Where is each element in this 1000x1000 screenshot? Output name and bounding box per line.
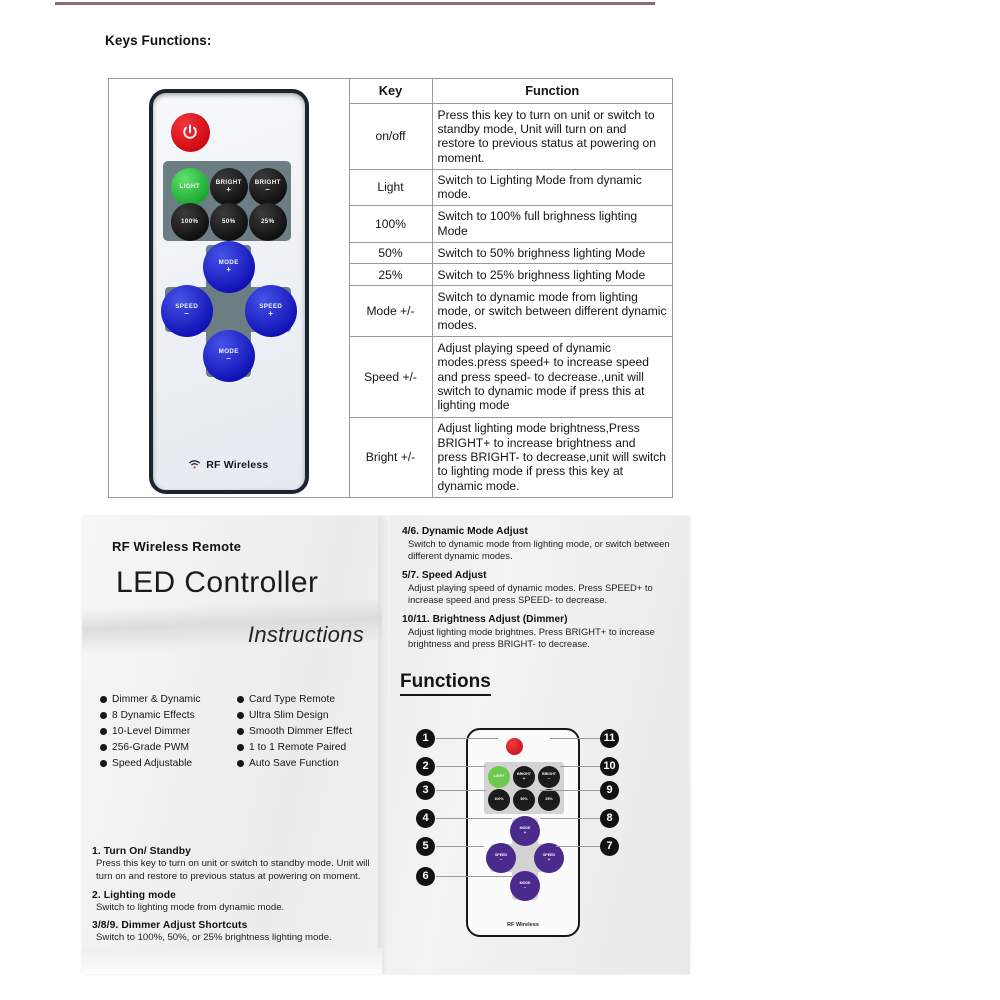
- list-item: Dimmer & Dynamic: [100, 694, 231, 705]
- leader-line-3: [436, 790, 486, 791]
- row-key-onoff: on/off: [349, 104, 432, 170]
- preset-50-label: 50%: [222, 219, 236, 225]
- row-key-light: Light: [349, 169, 432, 205]
- diagram-keypad: LIGHT BRIGHT+ BRIGHT– 100% 50% 25%: [484, 762, 564, 814]
- feature-label: Auto Save Function: [249, 758, 339, 769]
- feature-label: Dimmer & Dynamic: [112, 694, 201, 705]
- page-title: Keys Functions:: [105, 33, 212, 48]
- diagram-preset-25-label: 25%: [545, 798, 552, 802]
- bullet-icon: [100, 744, 107, 751]
- section-body: Adjust lighting mode brightnes. Press BR…: [408, 626, 682, 651]
- keys-functions-table: LIGHT BRIGHT + BRIGHT – 100% 50%: [108, 78, 673, 498]
- bullet-icon: [100, 760, 107, 767]
- column-header-key: Key: [349, 79, 432, 104]
- leader-line-1: [436, 738, 498, 739]
- column-header-function: Function: [432, 79, 673, 104]
- top-divider-rule: [55, 2, 655, 5]
- leader-line-2: [436, 766, 486, 767]
- list-item: Smooth Dimmer Effect: [237, 726, 368, 737]
- minus-icon: –: [265, 187, 270, 194]
- bright-plus-button[interactable]: BRIGHT +: [210, 168, 248, 206]
- leader-line-5: [436, 846, 484, 847]
- bullet-icon: [100, 712, 107, 719]
- callout-11: 11: [600, 729, 619, 748]
- leader-line-6: [436, 876, 512, 877]
- diagram-preset-25-button: 25%: [538, 789, 560, 811]
- preset-100-label: 100%: [181, 219, 198, 225]
- leaflet-title: LED Controller: [116, 566, 318, 600]
- diagram-preset-50-label: 50%: [520, 798, 527, 802]
- diagram-preset-50-button: 50%: [513, 789, 535, 811]
- instruction-leaflet-photo: RF Wireless Remote LED Controller Instru…: [82, 516, 690, 974]
- row-function-onoff: Press this key to turn on unit or switch…: [432, 104, 673, 170]
- leader-line-10: [560, 766, 600, 767]
- minus-icon: –: [524, 886, 527, 890]
- power-icon: [180, 123, 200, 143]
- wifi-icon: [189, 460, 200, 472]
- remote-photo-cell: LIGHT BRIGHT + BRIGHT – 100% 50%: [109, 79, 350, 498]
- rf-wireless-label: RF Wireless: [206, 459, 268, 471]
- row-function-25: Switch to 25% brighness lighting Mode: [432, 264, 673, 286]
- diagram-speed-minus-button: SPEED–: [486, 843, 516, 873]
- light-button-label: LIGHT: [179, 184, 200, 190]
- bullet-icon: [237, 696, 244, 703]
- row-key-bright: Bright +/-: [349, 417, 432, 497]
- leader-line-7: [556, 846, 600, 847]
- power-button[interactable]: [171, 113, 210, 152]
- diagram-bright-minus-button: BRIGHT–: [538, 766, 560, 788]
- feature-label: Smooth Dimmer Effect: [249, 726, 352, 737]
- instruction-sections-right: 4/6. Dynamic Mode Adjust Switch to dynam…: [402, 526, 682, 657]
- leaflet-subtitle: Instructions: [248, 622, 364, 648]
- plus-icon: +: [226, 267, 231, 274]
- minus-icon: –: [500, 858, 503, 862]
- diagram-rf-label: RF Wireless: [468, 922, 578, 928]
- list-item: Ultra Slim Design: [237, 710, 368, 721]
- callout-4: 4: [416, 809, 435, 828]
- minus-icon: –: [548, 777, 551, 781]
- row-function-speed: Adjust playing speed of dynamic modes.pr…: [432, 337, 673, 417]
- row-function-50: Switch to 50% brighness lighting Mode: [432, 242, 673, 264]
- diagram-mode-minus-button: MODE–: [510, 871, 540, 901]
- mode-plus-button[interactable]: MODE +: [203, 241, 255, 293]
- callout-6: 6: [416, 867, 435, 886]
- feature-label: 256-Grade PWM: [112, 742, 189, 753]
- table-header-row: LIGHT BRIGHT + BRIGHT – 100% 50%: [109, 79, 673, 104]
- feature-label: 8 Dynamic Effects: [112, 710, 195, 721]
- plus-icon: +: [548, 858, 551, 862]
- row-key-50: 50%: [349, 242, 432, 264]
- bullet-icon: [100, 728, 107, 735]
- row-key-25: 25%: [349, 264, 432, 286]
- list-item: 256-Grade PWM: [100, 742, 231, 753]
- minus-icon: –: [226, 356, 231, 363]
- paper-bottom-edge: [82, 948, 382, 974]
- row-key-speed: Speed +/-: [349, 337, 432, 417]
- feature-label: Ultra Slim Design: [249, 710, 329, 721]
- leaflet-brand: RF Wireless Remote: [112, 539, 241, 554]
- list-item: 1 to 1 Remote Paired: [237, 742, 368, 753]
- diagram-speed-plus-button: SPEED+: [534, 843, 564, 873]
- callout-1: 1: [416, 729, 435, 748]
- feature-label: Speed Adjustable: [112, 758, 192, 769]
- section-heading: 2. Lighting mode: [92, 890, 376, 901]
- section-heading: 4/6. Dynamic Mode Adjust: [402, 526, 682, 537]
- plus-icon: +: [524, 831, 527, 835]
- preset-50-button[interactable]: 50%: [210, 203, 248, 241]
- section-body: Switch to dynamic mode from lighting mod…: [408, 538, 682, 563]
- feature-label: 1 to 1 Remote Paired: [249, 742, 346, 753]
- list-item: Auto Save Function: [237, 758, 368, 769]
- diagram-bright-plus-button: BRIGHT+: [513, 766, 535, 788]
- leader-line-8: [540, 818, 600, 819]
- feature-label: Card Type Remote: [249, 694, 335, 705]
- callout-remote-diagram: LIGHT BRIGHT+ BRIGHT– 100% 50% 25% MODE+…: [466, 728, 580, 937]
- row-function-100: Switch to 100% full brighness lighting M…: [432, 206, 673, 242]
- plus-icon: +: [268, 311, 273, 318]
- instruction-section-1: 1. Turn On/ Standby Press this key to tu…: [92, 846, 376, 951]
- preset-25-label: 25%: [261, 219, 275, 225]
- remote-footer-branding: RF Wireless: [153, 459, 305, 472]
- callout-9: 9: [600, 781, 619, 800]
- diagram-preset-100-button: 100%: [488, 789, 510, 811]
- speed-minus-button[interactable]: SPEED –: [161, 285, 213, 337]
- minus-icon: –: [184, 311, 189, 318]
- row-function-mode: Switch to dynamic mode from lighting mod…: [432, 286, 673, 337]
- row-key-mode: Mode +/-: [349, 286, 432, 337]
- bright-minus-button[interactable]: BRIGHT –: [249, 168, 287, 206]
- leader-line-11: [550, 738, 600, 739]
- plus-icon: +: [523, 777, 526, 781]
- preset-25-button[interactable]: 25%: [249, 203, 287, 241]
- diagram-light-label: LIGHT: [494, 775, 505, 779]
- directional-pad: MODE + SPEED – SPEED + MODE –: [165, 245, 291, 377]
- section-heading: 3/8/9. Dimmer Adjust Shortcuts: [92, 920, 376, 931]
- leaflet-right-page: 4/6. Dynamic Mode Adjust Switch to dynam…: [390, 516, 690, 974]
- light-button[interactable]: LIGHT: [171, 168, 209, 206]
- diagram-power-button: [506, 738, 523, 755]
- callout-8: 8: [600, 809, 619, 828]
- preset-100-button[interactable]: 100%: [171, 203, 209, 241]
- bullet-icon: [237, 728, 244, 735]
- functions-heading: Functions: [400, 671, 491, 696]
- leaflet-left-page: RF Wireless Remote LED Controller Instru…: [82, 516, 382, 974]
- shortcut-keypad: LIGHT BRIGHT + BRIGHT – 100% 50%: [163, 161, 291, 241]
- section-heading: 10/11. Brightness Adjust (Dimmer): [402, 614, 682, 625]
- list-item: 8 Dynamic Effects: [100, 710, 231, 721]
- row-key-100: 100%: [349, 206, 432, 242]
- remote-illustration: LIGHT BRIGHT + BRIGHT – 100% 50%: [149, 89, 309, 494]
- bullet-icon: [100, 696, 107, 703]
- feature-label: 10-Level Dimmer: [112, 726, 190, 737]
- callout-7: 7: [600, 837, 619, 856]
- feature-list: Dimmer & Dynamic Card Type Remote 8 Dyna…: [100, 694, 368, 769]
- section-body: Press this key to turn on unit or switch…: [96, 858, 376, 884]
- list-item: 10-Level Dimmer: [100, 726, 231, 737]
- row-function-light: Switch to Lighting Mode from dynamic mod…: [432, 169, 673, 205]
- mode-minus-button[interactable]: MODE –: [203, 330, 255, 382]
- list-item: Card Type Remote: [237, 694, 368, 705]
- callout-5: 5: [416, 837, 435, 856]
- section-heading: 5/7. Speed Adjust: [402, 570, 682, 581]
- speed-plus-button[interactable]: SPEED +: [245, 285, 297, 337]
- row-function-bright: Adjust lighting mode brightness,Press BR…: [432, 417, 673, 497]
- diagram-dpad: MODE+ SPEED– SPEED+ MODE–: [490, 818, 558, 900]
- list-item: Speed Adjustable: [100, 758, 231, 769]
- plus-icon: +: [226, 187, 231, 194]
- callout-2: 2: [416, 757, 435, 776]
- callout-10: 10: [600, 757, 619, 776]
- bullet-icon: [237, 760, 244, 767]
- diagram-preset-100-label: 100%: [494, 798, 503, 802]
- section-body: Switch to 100%, 50%, or 25% brightness l…: [96, 932, 376, 945]
- section-body: Adjust playing speed of dynamic modes. P…: [408, 582, 682, 607]
- leader-line-9: [540, 790, 600, 791]
- bullet-icon: [237, 712, 244, 719]
- diagram-mode-plus-button: MODE+: [510, 816, 540, 846]
- section-heading: 1. Turn On/ Standby: [92, 846, 376, 857]
- diagram-light-button: LIGHT: [488, 766, 510, 788]
- callout-3: 3: [416, 781, 435, 800]
- section-body: Switch to lighting mode from dynamic mod…: [96, 902, 376, 915]
- leader-line-4: [436, 818, 512, 819]
- bullet-icon: [237, 744, 244, 751]
